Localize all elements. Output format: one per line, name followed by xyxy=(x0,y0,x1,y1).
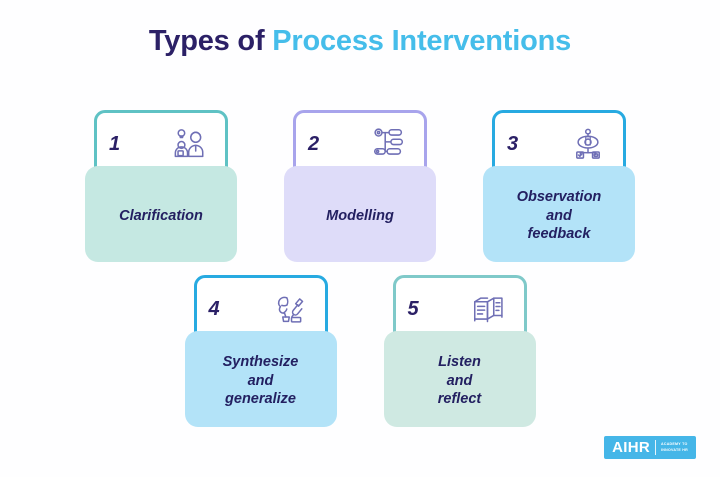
card-2-label: Modelling xyxy=(326,207,394,226)
card-1-label: Clarification xyxy=(119,207,203,226)
card-row-bottom: 4 Synthesize and generalize xyxy=(0,275,720,427)
person-observation-feedback-icon xyxy=(569,125,607,163)
card-2-body: Modelling xyxy=(284,166,436,262)
brain-microscope-icon xyxy=(271,290,309,328)
flowchart-nodes-icon xyxy=(370,125,408,163)
two-people-lightbulb-icon xyxy=(171,125,209,163)
page-title: Types of Process Interventions xyxy=(0,25,720,58)
page-title-accent: Process Interventions xyxy=(272,25,571,57)
logo-divider xyxy=(655,440,656,455)
card-row-top: 1 Clarification xyxy=(0,110,720,262)
infographic-canvas: Types of Process Interventions 1 xyxy=(0,0,720,477)
card-1-number: 1 xyxy=(109,134,120,154)
card-2-number: 2 xyxy=(308,134,319,154)
card-3[interactable]: 3 xyxy=(483,110,635,262)
card-4-number: 4 xyxy=(209,299,220,319)
page-title-prefix: Types of xyxy=(149,25,272,57)
card-3-body: Observation and feedback xyxy=(483,166,635,262)
card-4-label: Synthesize and generalize xyxy=(223,353,299,409)
card-4[interactable]: 4 Synthesize and generalize xyxy=(185,275,337,427)
card-5[interactable]: 5 Listen and reflect xyxy=(384,275,536,427)
card-3-number: 3 xyxy=(507,134,518,154)
aihr-logo: AIHR ACADEMY TO INNOVATE HR xyxy=(604,436,696,459)
aihr-logo-tagline: ACADEMY TO INNOVATE HR xyxy=(661,442,688,452)
aihr-logo-mark: AIHR xyxy=(612,440,650,455)
card-3-label: Observation and feedback xyxy=(517,188,602,244)
card-4-body: Synthesize and generalize xyxy=(185,331,337,427)
card-5-label: Listen and reflect xyxy=(438,353,482,409)
card-5-body: Listen and reflect xyxy=(384,331,536,427)
card-5-number: 5 xyxy=(408,299,419,319)
card-1[interactable]: 1 Clarification xyxy=(85,110,237,262)
card-1-body: Clarification xyxy=(85,166,237,262)
card-2[interactable]: 2 Modelling xyxy=(284,110,436,262)
open-book-listen-icon xyxy=(470,290,508,328)
